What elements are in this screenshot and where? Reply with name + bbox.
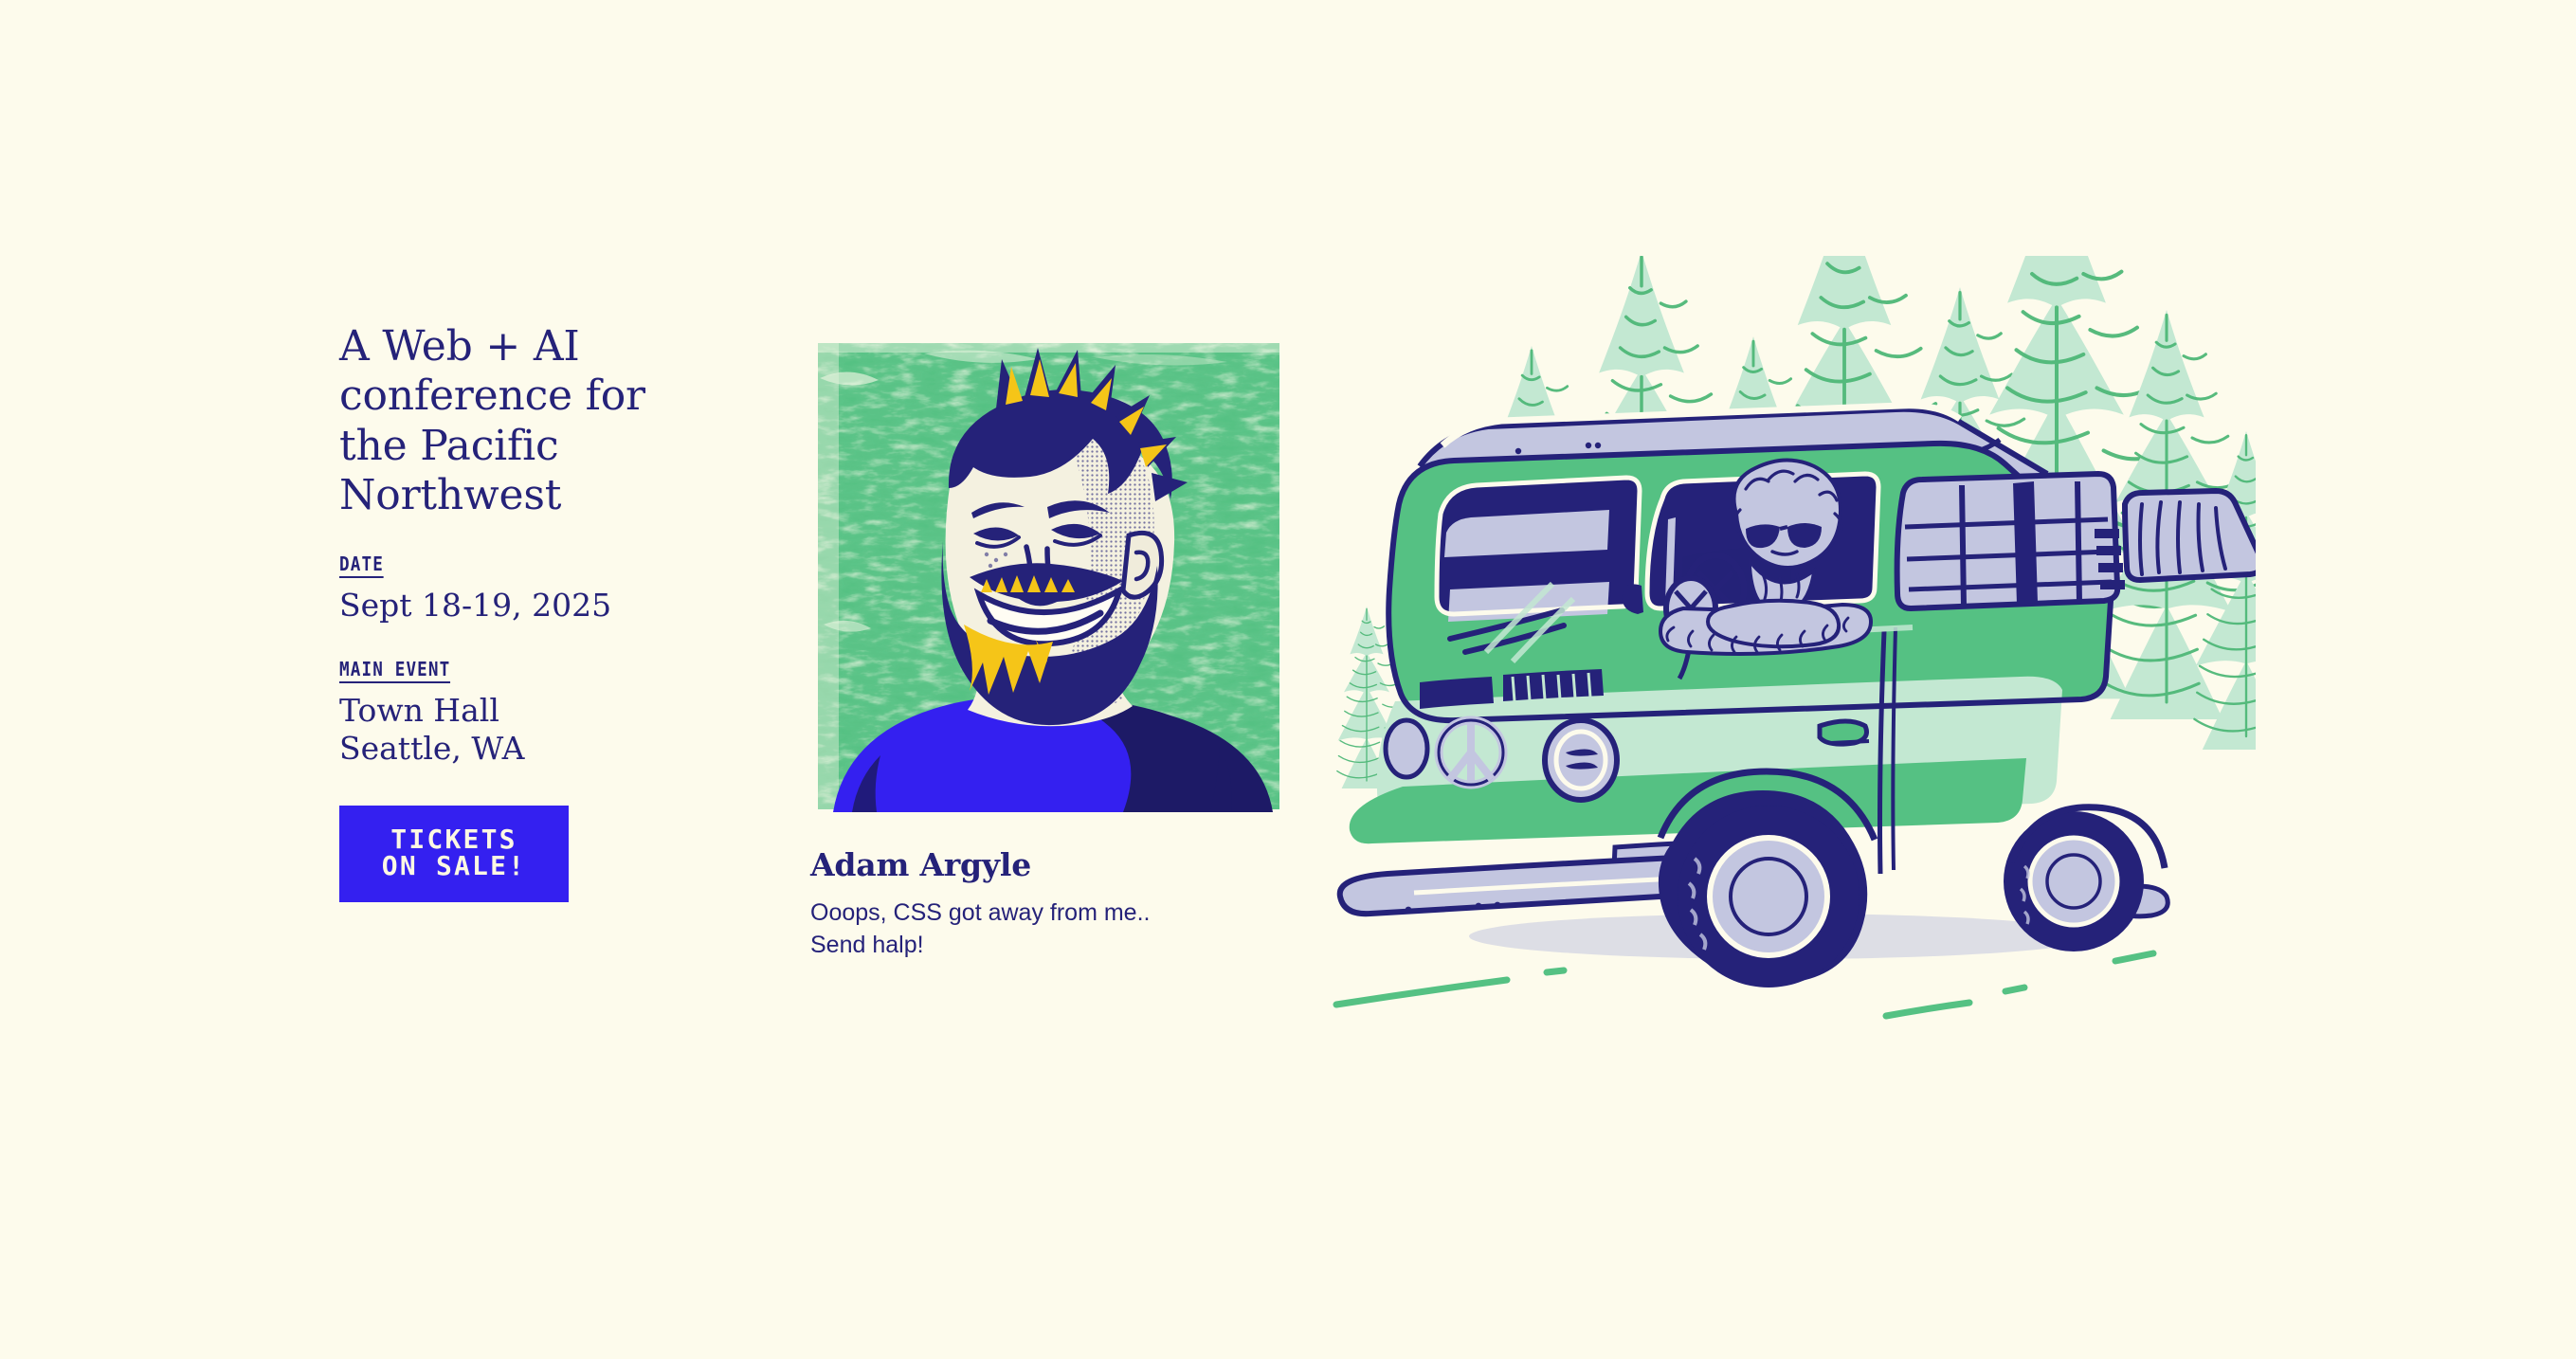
page-title: A Web + AI conference for the Pacific No… [339,322,747,520]
speaker-portrait[interactable] [810,340,1284,812]
date-value: Sept 18-19, 2025 [339,587,747,625]
tickets-on-sale-button[interactable]: TICKETS ON SALE! [339,806,569,902]
speaker-card[interactable]: Adam Argyle Ooops, CSS got away from me.… [810,340,1284,962]
venue-value: Town Hall Seattle, WA [339,692,747,769]
speaker-bio: Ooops, CSS got away from me.. Send halp! [810,897,1261,962]
van-forest-illustration [1308,256,2256,1166]
speaker-portrait-illustration [810,340,1284,812]
vw-van-sasquatch-illustration [1308,256,2256,1166]
event-info-column: A Web + AI conference for the Pacific No… [339,322,747,902]
main-event-label: MAIN EVENT [339,660,450,683]
venue-block: MAIN EVENT Town Hall Seattle, WA [339,660,747,769]
hero-section: A Web + AI conference for the Pacific No… [0,0,2576,1359]
speaker-name: Adam Argyle [810,846,1284,883]
date-label: DATE [339,554,384,578]
date-block: DATE Sept 18-19, 2025 [339,554,747,625]
